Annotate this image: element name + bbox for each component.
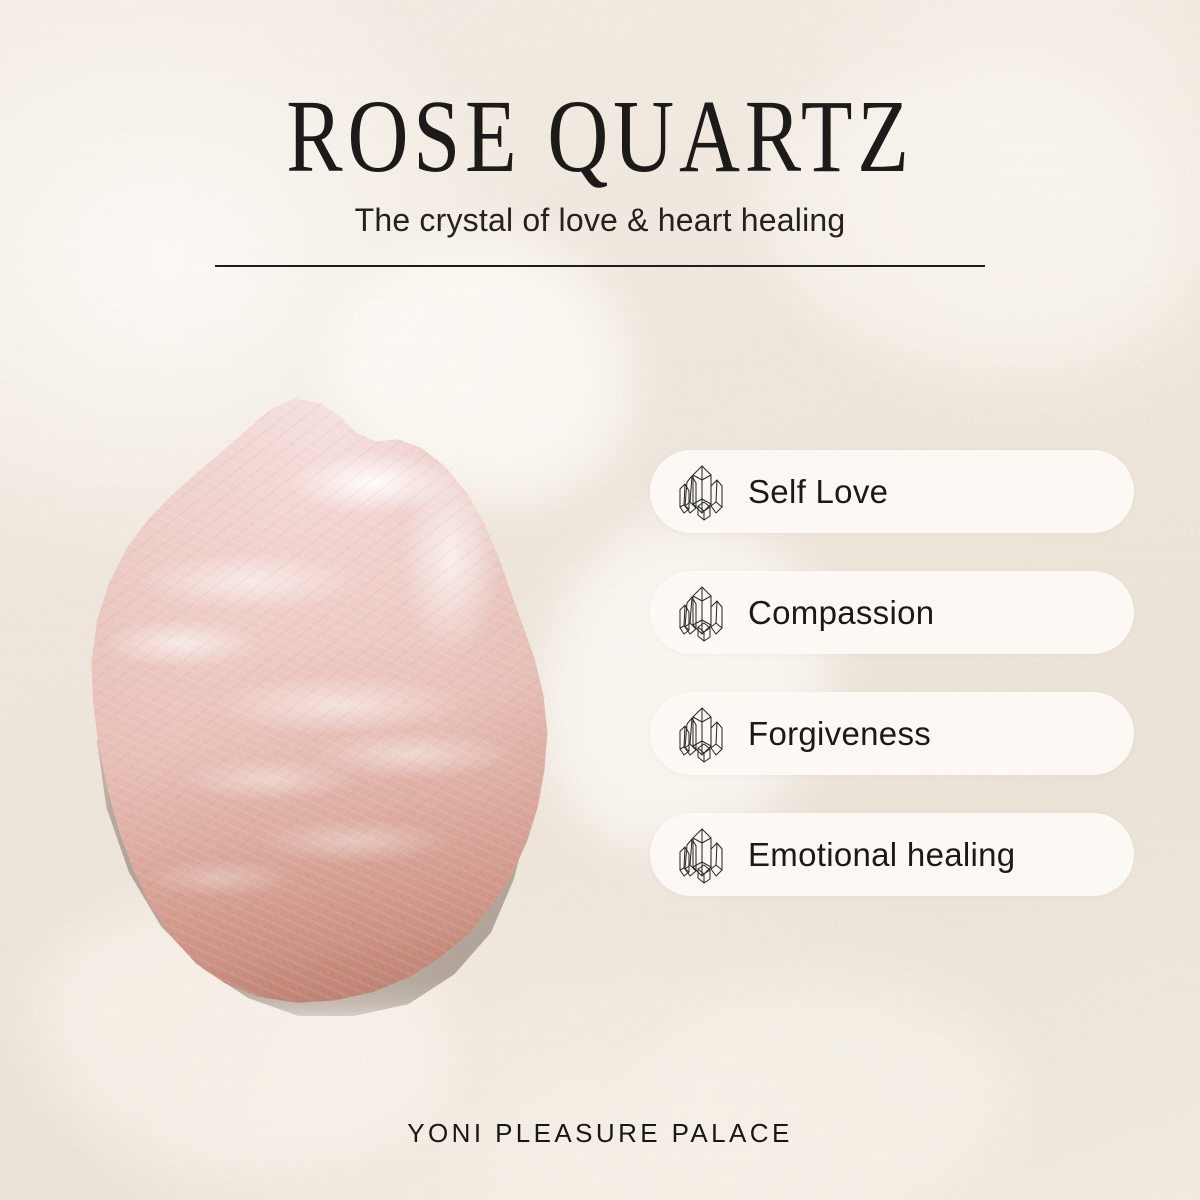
crystal-cluster-icon — [676, 583, 728, 643]
crystal-cluster-icon — [676, 462, 728, 522]
benefit-item-emotional-healing[interactable]: Emotional healing — [650, 813, 1134, 896]
crystal-cluster-icon — [676, 704, 728, 764]
benefit-label: Compassion — [748, 594, 934, 632]
hero-crystal-image — [62, 386, 562, 1026]
benefit-item-self-love[interactable]: Self Love — [650, 450, 1134, 533]
brand-footer: YONI PLEASURE PALACE — [0, 1118, 1200, 1149]
benefit-item-compassion[interactable]: Compassion — [650, 571, 1134, 654]
poster-canvas: ROSE QUARTZ The crystal of love & heart … — [0, 0, 1200, 1200]
benefit-label: Emotional healing — [748, 836, 1015, 874]
benefit-item-forgiveness[interactable]: Forgiveness — [650, 692, 1134, 775]
header-divider — [215, 265, 985, 267]
benefit-label: Forgiveness — [748, 715, 931, 753]
crystal-cluster-icon — [676, 825, 728, 885]
page-subtitle: The crystal of love & heart healing — [0, 202, 1200, 239]
benefits-list: Self Love Compassion — [650, 450, 1134, 896]
benefit-label: Self Love — [748, 473, 888, 511]
page-title: ROSE QUARTZ — [24, 86, 1176, 190]
header-block: ROSE QUARTZ The crystal of love & heart … — [0, 86, 1200, 239]
